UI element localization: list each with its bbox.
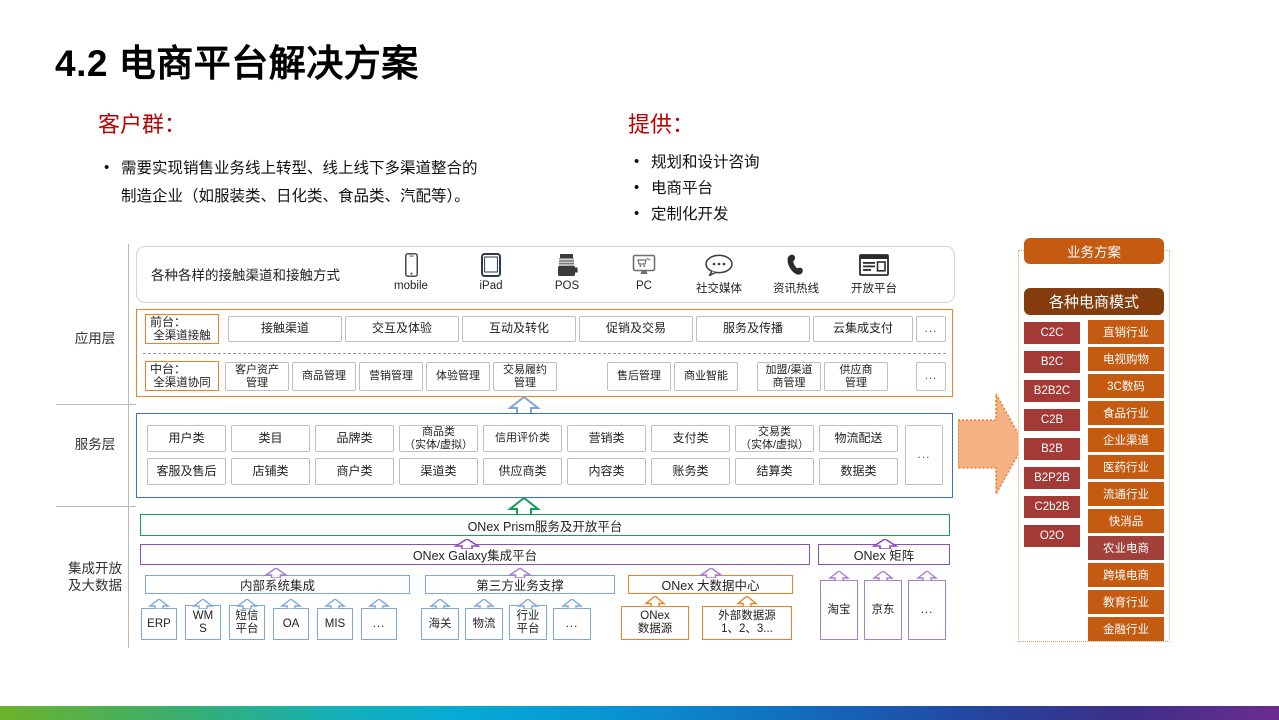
leaf-matrix[interactable]: 淘宝 (820, 580, 858, 640)
arrow-leaf-to-internal (146, 596, 172, 614)
industry-chip[interactable]: 教育行业 (1088, 590, 1164, 614)
list-item: 电商平台 (634, 176, 760, 202)
svc-row2-item[interactable]: 店铺类 (231, 458, 310, 485)
mode-chip[interactable]: C2b2B (1024, 496, 1080, 518)
leaf-matrix[interactable]: 京东 (864, 580, 902, 640)
mode-chip[interactable]: B2C (1024, 351, 1080, 373)
app-middle-item[interactable]: 商品管理 (292, 362, 356, 391)
channel-mobile[interactable]: mobile (374, 251, 448, 292)
industry-chip[interactable]: 流通行业 (1088, 482, 1164, 506)
industry-chip[interactable]: 食品行业 (1088, 401, 1164, 425)
arrow-leaf-to-internal (190, 596, 216, 614)
app-middle-more[interactable]: ... (916, 362, 946, 391)
arrow-matrix-to-prism (870, 536, 900, 554)
tablet-icon (454, 251, 528, 279)
leaf-matrix-more[interactable]: ... (908, 580, 946, 640)
arrow-leaf-to-internal (234, 596, 260, 614)
layer-divider-app-svc (56, 404, 136, 405)
channel-label: mobile (374, 280, 448, 292)
channel-label: 社交媒体 (682, 280, 756, 296)
app-middle-item[interactable]: 交易履约 管理 (493, 362, 557, 391)
bottom-gradient-bar (0, 706, 1279, 720)
customers-list: 需要实现销售业务线上转型、线上线下多渠道整合的 制造企业（如服装类、日化类、食品… (104, 155, 478, 211)
svc-more[interactable]: ... (905, 425, 943, 485)
app-middle-item[interactable]: 售后管理 (607, 362, 671, 391)
svc-row2-item[interactable]: 账务类 (651, 458, 730, 485)
arrow-leaf-to-bigdata (642, 594, 668, 612)
svc-row1-item[interactable]: 商品类 （实体/虚拟） (399, 425, 478, 452)
svc-row2-item[interactable]: 内容类 (567, 458, 646, 485)
industry-chip[interactable]: 医药行业 (1088, 455, 1164, 479)
industry-chip[interactable]: 金融行业 (1088, 617, 1164, 641)
layer-label-integration-line2: 及大数据 (68, 578, 122, 593)
arrow-leaf-to-internal (366, 596, 392, 614)
app-front-more[interactable]: ... (916, 316, 946, 342)
pos-terminal-icon (530, 251, 604, 279)
arrow-leaf-to-thirdparty (471, 596, 497, 614)
list-item: 规划和设计咨询 (634, 150, 760, 176)
front-office-tag: 前台： 全渠道接触 (145, 314, 219, 344)
channel-label: PC (607, 280, 681, 292)
svc-row2-item[interactable]: 结算类 (735, 458, 814, 485)
industry-chip[interactable]: 快消品 (1088, 509, 1164, 533)
app-front-item[interactable]: 服务及传播 (696, 316, 810, 342)
industry-chip[interactable]: 电视购物 (1088, 347, 1164, 371)
svc-row1-item[interactable]: 类目 (231, 425, 310, 452)
front-office-tag-line1: 前台： (146, 315, 186, 329)
list-item: 定制化开发 (634, 202, 760, 228)
mode-chip[interactable]: B2P2B (1024, 467, 1080, 489)
mode-chip[interactable]: C2B (1024, 409, 1080, 431)
channel-ipad[interactable]: iPad (454, 251, 528, 292)
channel-pos[interactable]: POS (530, 251, 604, 292)
app-front-item[interactable]: 云集成支付 (813, 316, 913, 342)
channel-label: POS (530, 280, 604, 292)
industry-chip[interactable]: 跨境电商 (1088, 563, 1164, 587)
industry-chip[interactable]: 直销行业 (1088, 320, 1164, 344)
business-plan-header[interactable]: 业务方案 (1024, 238, 1164, 264)
svc-row1-item[interactable]: 营销类 (567, 425, 646, 452)
channel-label: iPad (454, 280, 528, 292)
app-front-item[interactable]: 促销及交易 (579, 316, 693, 342)
app-front-item[interactable]: 接触渠道 (228, 316, 342, 342)
list-item: 需要实现销售业务线上转型、线上线下多渠道整合的 (104, 155, 478, 183)
arrow-leaf-to-thirdparty (559, 596, 585, 614)
channel-label: 资讯热线 (759, 280, 833, 296)
open-platform-icon (837, 251, 911, 279)
svc-row1-item[interactable]: 支付类 (651, 425, 730, 452)
channel-openplatform[interactable]: 开放平台 (837, 251, 911, 296)
arrow-internal-to-galaxy (262, 565, 290, 583)
layer-label-application: 应用层 (58, 330, 132, 347)
app-middle-item[interactable]: 加盟/渠道 商管理 (757, 362, 821, 391)
svc-row1-item[interactable]: 交易类 （实体/虚拟） (735, 425, 814, 452)
channel-bar: 各种各样的接触渠道和接触方式 mobile iPad POS PC 社交媒体 (136, 246, 955, 303)
app-middle-item[interactable]: 商业智能 (674, 362, 738, 391)
list-item: 制造企业（如服装类、日化类、食品类、汽配等）。 (104, 183, 478, 211)
industry-chip[interactable]: 3C数码 (1088, 374, 1164, 398)
flow-arrow-icon (958, 392, 1026, 496)
svc-row2-item[interactable]: 数据类 (819, 458, 898, 485)
mode-chip[interactable]: B2B2C (1024, 380, 1080, 402)
layer-label-integration-line1: 集成开放 (68, 561, 122, 576)
channel-social[interactable]: 社交媒体 (682, 251, 756, 296)
arrow-leaf-to-internal (322, 596, 348, 614)
svc-row1-item[interactable]: 信用评价类 (483, 425, 562, 452)
mode-chip[interactable]: B2B (1024, 438, 1080, 460)
arrow-leaf-to-thirdparty (515, 596, 541, 614)
telephone-icon (759, 251, 833, 279)
offers-heading: 提供： (628, 107, 694, 139)
middle-office-tag-line2: 全渠道协同 (153, 376, 211, 390)
app-middle-item[interactable]: 体验管理 (426, 362, 490, 391)
svc-row2-item[interactable]: 商户类 (315, 458, 394, 485)
svc-row2-item[interactable]: 客服及售后 (147, 458, 226, 485)
ecommerce-modes-header[interactable]: 各种电商模式 (1024, 288, 1164, 315)
arrow-leaf-to-matrix (826, 568, 852, 586)
svc-row2-item[interactable]: 渠道类 (399, 458, 478, 485)
arrow-leaf-to-bigdata (734, 594, 760, 612)
app-middle-item[interactable]: 营销管理 (359, 362, 423, 391)
mode-chip[interactable]: O2O (1024, 525, 1080, 547)
industry-chip[interactable]: 企业渠道 (1088, 428, 1164, 452)
prism-platform-bar[interactable]: ONex Prism服务及开放平台 (140, 514, 950, 536)
arrow-leaf-to-thirdparty (427, 596, 453, 614)
arrow-leaf-to-matrix (870, 568, 896, 586)
channel-bar-title: 各种各样的接触渠道和接触方式 (151, 264, 340, 284)
arrow-leaf-to-matrix (914, 568, 940, 586)
application-layer-separator (143, 353, 946, 354)
offers-list: 规划和设计咨询 电商平台 定制化开发 (634, 150, 760, 228)
svc-row1-item[interactable]: 品牌类 (315, 425, 394, 452)
channel-pc[interactable]: PC (607, 251, 681, 292)
layer-label-service: 服务层 (58, 436, 132, 453)
app-front-item[interactable]: 交互及体验 (345, 316, 459, 342)
channel-label: 开放平台 (837, 280, 911, 296)
middle-office-tag-line1: 中台： (146, 362, 186, 376)
svc-row2-item[interactable]: 供应商类 (483, 458, 562, 485)
arrow-thirdparty-to-galaxy (506, 565, 534, 583)
middle-office-tag: 中台： 全渠道协同 (145, 361, 219, 391)
app-middle-item[interactable]: 客户资产 管理 (225, 362, 289, 391)
svc-row1-item[interactable]: 物流配送 (819, 425, 898, 452)
mode-chip[interactable]: C2C (1024, 322, 1080, 344)
page-title: 4.2 电商平台解决方案 (55, 33, 419, 87)
mobile-phone-icon (374, 251, 448, 279)
layer-divider-svc-int (56, 506, 136, 507)
arrow-galaxy-to-prism (452, 536, 482, 554)
chat-bubble-icon (682, 251, 756, 279)
front-office-tag-line2: 全渠道接触 (153, 329, 211, 343)
app-front-item[interactable]: 互动及转化 (462, 316, 576, 342)
app-middle-item[interactable]: 供应商 管理 (824, 362, 888, 391)
arrow-bigdata-to-galaxy (697, 565, 725, 583)
desktop-monitor-icon (607, 251, 681, 279)
customers-heading: 客户群： (98, 107, 186, 139)
channel-hotline[interactable]: 资讯热线 (759, 251, 833, 296)
industry-chip[interactable]: 农业电商 (1088, 536, 1164, 560)
arrow-leaf-to-internal (278, 596, 304, 614)
svc-row1-item[interactable]: 用户类 (147, 425, 226, 452)
layer-label-integration: 集成开放 及大数据 (58, 560, 132, 594)
